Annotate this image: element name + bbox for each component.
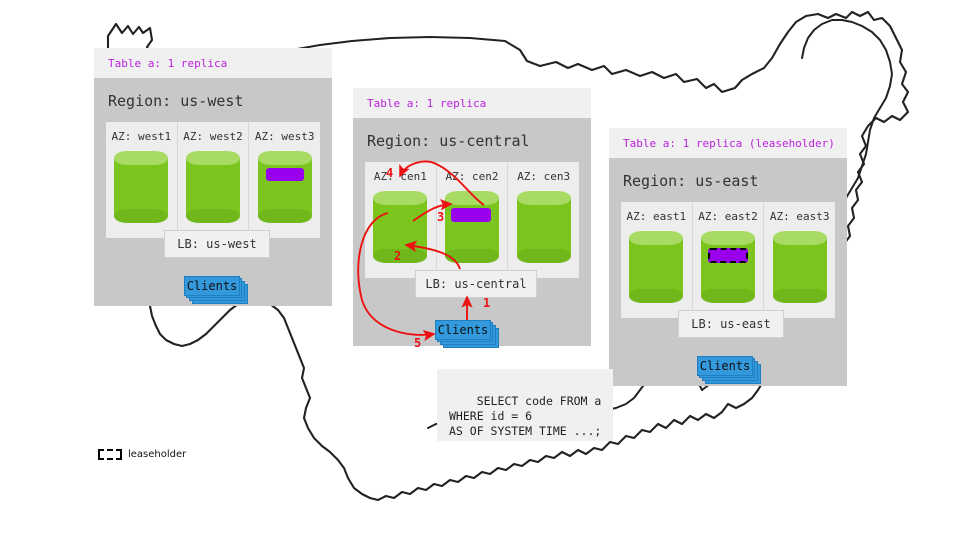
cylinder-top <box>629 231 683 245</box>
cylinder-body <box>258 158 312 216</box>
flow-step-label-4: 4 <box>386 166 393 180</box>
clients-front[interactable]: Clients <box>184 276 240 296</box>
sql-query-box: SELECT code FROM a WHERE id = 6 AS OF SY… <box>437 369 613 441</box>
cylinder-top <box>258 151 312 165</box>
node-cylinder-west3 <box>258 151 312 223</box>
flow-step-label-1: 1 <box>483 296 490 310</box>
load-balancer-us-central[interactable]: LB: us-central <box>415 270 537 298</box>
az-cell-cen3[interactable]: AZ: cen3 <box>507 162 579 278</box>
replica-range-marker <box>451 208 491 222</box>
sql-query-text: SELECT code FROM a WHERE id = 6 AS OF SY… <box>449 394 601 438</box>
cylinder-top <box>186 151 240 165</box>
az-cell-west3[interactable]: AZ: west3 <box>248 122 320 238</box>
region-replica-header: Table a: 1 replica <box>94 48 332 78</box>
region-card-us-west: Table a: 1 replica Region: us-west AZ: w… <box>94 48 332 306</box>
az-label: AZ: west1 <box>106 130 177 143</box>
clients-stack-us-west[interactable]: Clients <box>184 276 252 306</box>
az-cell-west1[interactable]: AZ: west1 <box>106 122 177 238</box>
cylinder-body <box>186 158 240 216</box>
cylinder-bottom <box>114 209 168 223</box>
node-cylinder-west1 <box>114 151 168 223</box>
leaseholder-swatch-icon <box>98 449 122 460</box>
region-replica-header: Table a: 1 replica <box>353 88 591 118</box>
region-card-us-east: Table a: 1 replica (leaseholder) Region:… <box>609 128 847 386</box>
load-balancer-us-west[interactable]: LB: us-west <box>164 230 270 258</box>
cylinder-body <box>445 198 499 256</box>
cylinder-top <box>517 191 571 205</box>
clients-stack-us-east[interactable]: Clients <box>697 356 765 386</box>
clients-label: Clients <box>700 359 751 373</box>
node-cylinder-west2 <box>186 151 240 223</box>
leaseholder-range-marker <box>708 248 748 263</box>
az-row: AZ: west1 AZ: west2 AZ <box>106 122 320 238</box>
cylinder-bottom <box>186 209 240 223</box>
cylinder-body <box>517 198 571 256</box>
load-balancer-label: LB: us-central <box>425 277 526 291</box>
cylinder-top <box>373 191 427 205</box>
clients-stack-us-central[interactable]: Clients <box>435 320 503 350</box>
cylinder-top <box>445 191 499 205</box>
cylinder-body <box>114 158 168 216</box>
node-cylinder-east2 <box>701 231 755 303</box>
az-cell-east2[interactable]: AZ: east2 <box>692 202 764 318</box>
flow-step-label-3: 3 <box>437 210 444 224</box>
cylinder-top <box>114 151 168 165</box>
cylinder-bottom <box>517 249 571 263</box>
region-replica-header: Table a: 1 replica (leaseholder) <box>609 128 847 158</box>
flow-step-label-2: 2 <box>394 249 401 263</box>
az-cell-west2[interactable]: AZ: west2 <box>177 122 249 238</box>
load-balancer-label: LB: us-west <box>177 237 256 251</box>
flow-step-label-5: 5 <box>414 336 421 350</box>
az-label: AZ: west3 <box>249 130 320 143</box>
az-cell-east3[interactable]: AZ: east3 <box>763 202 835 318</box>
az-label: AZ: cen2 <box>437 170 508 183</box>
cylinder-body <box>373 198 427 256</box>
cylinder-body <box>773 238 827 296</box>
region-title: Region: us-east <box>609 158 847 202</box>
az-label: AZ: east3 <box>764 210 835 223</box>
region-title: Region: us-west <box>94 78 332 122</box>
cylinder-bottom <box>773 289 827 303</box>
legend-label: leaseholder <box>128 449 186 460</box>
cylinder-top <box>773 231 827 245</box>
node-cylinder-east3 <box>773 231 827 303</box>
load-balancer-label: LB: us-east <box>691 317 770 331</box>
clients-front[interactable]: Clients <box>697 356 753 376</box>
diagram-canvas: Table a: 1 replica Region: us-west AZ: w… <box>0 0 960 540</box>
clients-label: Clients <box>438 323 489 337</box>
az-label: AZ: east1 <box>621 210 692 223</box>
region-title: Region: us-central <box>353 118 591 162</box>
cylinder-bottom <box>258 209 312 223</box>
cylinder-body <box>701 238 755 296</box>
az-cell-cen2[interactable]: AZ: cen2 <box>436 162 508 278</box>
cylinder-body <box>629 238 683 296</box>
az-cell-east1[interactable]: AZ: east1 <box>621 202 692 318</box>
az-label: AZ: west2 <box>178 130 249 143</box>
replica-range-marker <box>266 168 304 181</box>
node-cylinder-east1 <box>629 231 683 303</box>
clients-label: Clients <box>187 279 238 293</box>
az-label: AZ: cen1 <box>365 170 436 183</box>
cylinder-bottom <box>701 289 755 303</box>
clients-front[interactable]: Clients <box>435 320 491 340</box>
node-cylinder-cen3 <box>517 191 571 263</box>
load-balancer-us-east[interactable]: LB: us-east <box>678 310 784 338</box>
az-label: AZ: east2 <box>693 210 764 223</box>
cylinder-bottom <box>629 289 683 303</box>
node-cylinder-cen2 <box>445 191 499 263</box>
az-row: AZ: east1 AZ: east2 <box>621 202 835 318</box>
cylinder-top <box>701 231 755 245</box>
az-label: AZ: cen3 <box>508 170 579 183</box>
region-card-us-central: Table a: 1 replica Region: us-central AZ… <box>353 88 591 346</box>
legend-leaseholder: leaseholder <box>98 449 186 460</box>
cylinder-bottom <box>445 249 499 263</box>
